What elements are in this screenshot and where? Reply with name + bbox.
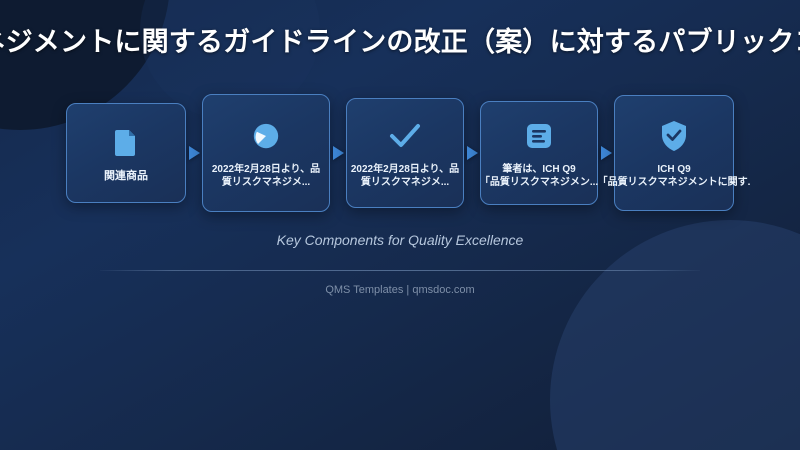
component-card-5[interactable]: ICH Q9 「品質リスクマネジメントに関す. — [614, 95, 734, 211]
card-label-line1: 筆者は、ICH Q9 — [502, 163, 575, 177]
card-label-line1: 2022年2月28日より、品 — [212, 163, 320, 177]
title-band: 質リスクマネジメントに関するガイドラインの改正（案）に対するパブリックコメントの… — [0, 18, 800, 66]
slide-canvas: 質リスクマネジメントに関するガイドラインの改正（案）に対するパブリックコメントの… — [0, 0, 800, 450]
card-label-line2: 「品質リスクマネジメン... — [480, 176, 598, 190]
connector-arrow-1 — [186, 88, 202, 218]
card-label-line2: 「品質リスクマネジメントに関す. — [598, 176, 751, 190]
footer-attribution: QMS Templates | qmsdoc.com — [0, 284, 800, 296]
document-icon — [109, 125, 143, 159]
connector-arrow-3 — [464, 88, 480, 218]
check-icon — [388, 119, 422, 153]
card-label-line1: 2022年2月28日より、品 — [351, 163, 459, 177]
card-label-line2: 質リスクマネジメ... — [361, 176, 449, 190]
shield-check-icon — [657, 119, 691, 153]
card-label-line1: 関連商品 — [104, 169, 148, 184]
background-gradient — [0, 0, 800, 450]
component-card-1[interactable]: 関連商品 — [66, 103, 186, 203]
card-label-line2: 質リスクマネジメ... — [222, 176, 310, 190]
component-card-2[interactable]: 2022年2月28日より、品 質リスクマネジメ... — [202, 94, 330, 212]
connector-arrow-2 — [330, 88, 346, 218]
arrow-right-icon — [467, 146, 478, 160]
pie-chart-icon — [249, 119, 283, 153]
component-card-3[interactable]: 2022年2月28日より、品 質リスクマネジメ... — [346, 98, 464, 208]
page-title: 質リスクマネジメントに関するガイドラインの改正（案）に対するパブリックコメントの… — [0, 18, 800, 66]
document-lines-icon — [522, 119, 556, 153]
component-card-row: 関連商品 2022年2月28日より、品 質リスクマネジメ... — [0, 88, 800, 218]
subtitle: Key Components for Quality Excellence — [0, 232, 800, 248]
arrow-right-icon — [189, 146, 200, 160]
card-label-line1: ICH Q9 — [657, 163, 690, 177]
component-card-4[interactable]: 筆者は、ICH Q9 「品質リスクマネジメン... — [480, 101, 598, 205]
connector-arrow-4 — [598, 88, 614, 218]
arrow-right-icon — [333, 146, 344, 160]
arrow-right-icon — [601, 146, 612, 160]
divider — [100, 270, 700, 271]
